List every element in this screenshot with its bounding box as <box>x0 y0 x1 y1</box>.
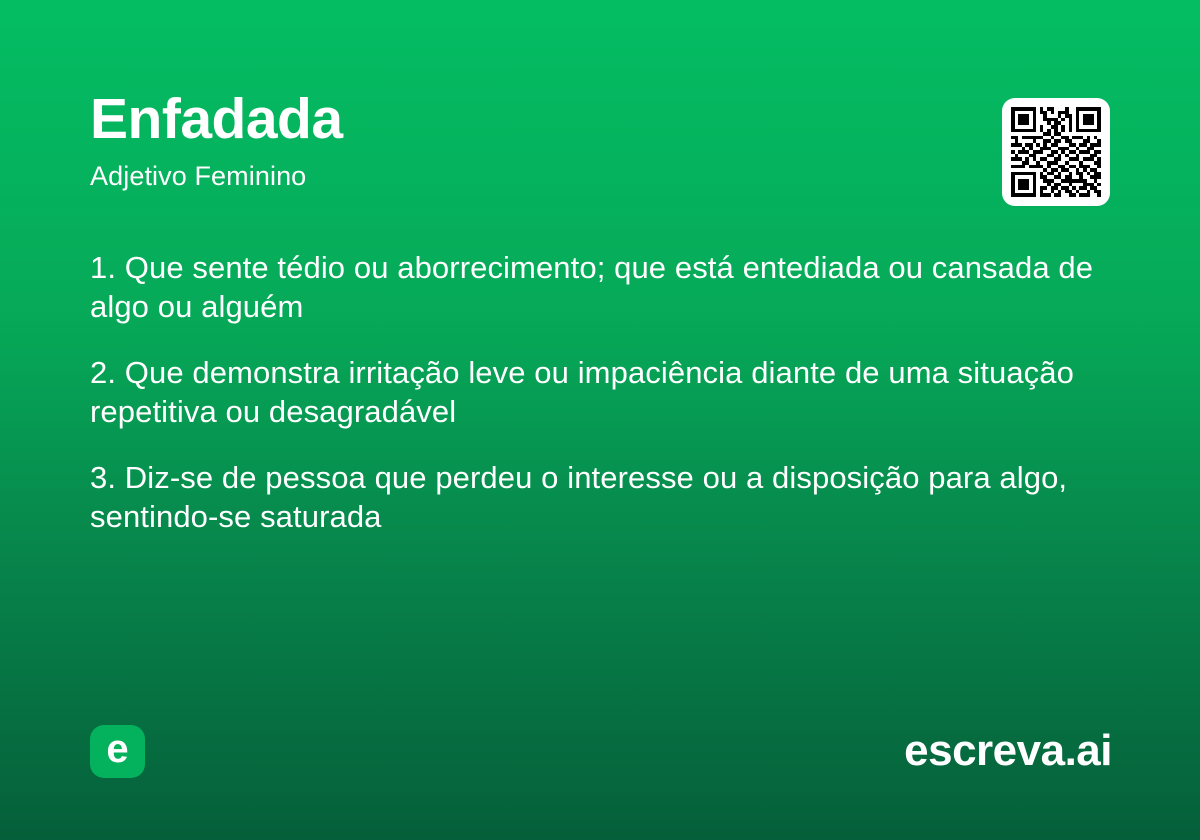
escreva-logo-icon[interactable]: e <box>90 725 145 778</box>
definition-item: 3. Diz-se de pessoa que perdeu o interes… <box>90 458 1100 536</box>
definition-item: 1. Que sente tédio ou aborrecimento; que… <box>90 248 1100 326</box>
qr-code-icon <box>1011 107 1101 197</box>
brand-name: escreva.ai <box>904 727 1112 775</box>
word-class-label: Adjetivo Feminino <box>90 160 343 192</box>
definition-list: 1. Que sente tédio ou aborrecimento; que… <box>90 248 1100 536</box>
definition-item: 2. Que demonstra irritação leve ou impac… <box>90 353 1100 431</box>
card-footer: e escreva.ai <box>90 724 1112 778</box>
dictionary-card: Enfadada Adjetivo Feminino 1. Que sente … <box>0 0 1200 840</box>
logo-letter: e <box>106 729 128 769</box>
card-header: Enfadada Adjetivo Feminino <box>90 88 1110 206</box>
headings-group: Enfadada Adjetivo Feminino <box>90 88 343 192</box>
qr-code-card[interactable] <box>1002 98 1110 206</box>
page-title: Enfadada <box>90 88 343 150</box>
